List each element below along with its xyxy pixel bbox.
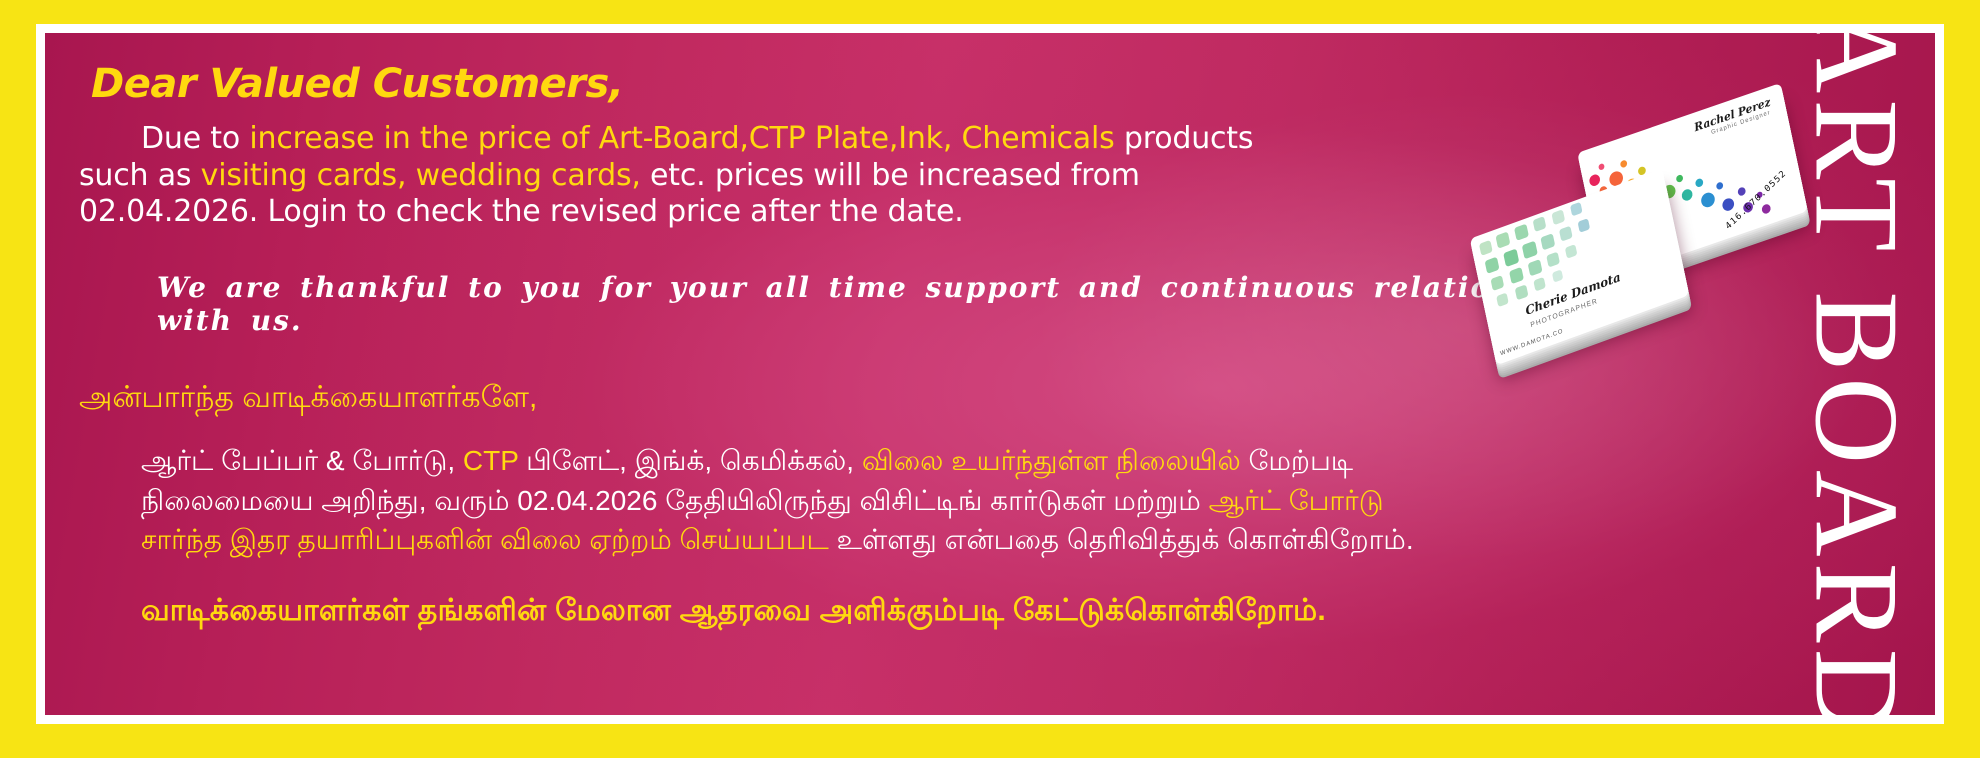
green-dots-graphic (1470, 169, 1690, 366)
price-revision-banner: Dear Valued Customers, Due to increase i… (0, 0, 1980, 758)
tamil-body-seg7: உள்ளது என்பதை தெரிவித்துக் கொள்கிறோம். (829, 524, 1414, 555)
tamil-body-paragraph: ஆர்ட் பேப்பர் & போர்டு, CTP பிளேட், இங்க… (141, 441, 1451, 560)
english-thanks-line: We are thankful to you for your all time… (157, 271, 1579, 337)
tamil-body-seg1: ஆர்ட் பேப்பர் & போர்டு, (141, 445, 463, 476)
english-body-highlight-cards: visiting cards, wedding cards, (201, 158, 641, 193)
tamil-body-highlight-ctp: CTP (463, 445, 519, 476)
english-body-seg1: Due to (141, 121, 249, 156)
green-business-card-stack: Cherie Damota PHOTOGRAPHER WWW.DAMOTA.CO (1470, 169, 1690, 366)
text-column: Dear Valued Customers, Due to increase i… (79, 39, 1579, 632)
business-cards-artwork: Rachel Perez Graphic Designer 416.670.05… (1475, 75, 1805, 345)
english-body-paragraph: Due to increase in the price of Art-Boar… (79, 121, 1299, 231)
english-greeting: Dear Valued Customers, (91, 61, 1579, 107)
tamil-closing-line: வாடிக்கையாளர்கள் தங்களின் மேலான ஆதரவை அள… (141, 594, 1579, 632)
tamil-body-highlight-priceincrease: விலை உயர்ந்துள்ள நிலையில் (862, 445, 1241, 476)
vertical-brand-text: ART BOARD (1796, 33, 1916, 715)
tamil-body-seg3: பிளேட், இங்க், கெமிக்கல், (518, 445, 861, 476)
white-frame: Dear Valued Customers, Due to increase i… (36, 24, 1944, 724)
banner-board: Dear Valued Customers, Due to increase i… (45, 33, 1935, 715)
english-body-highlight-products: increase in the price of Art-Board,CTP P… (249, 121, 1114, 156)
tamil-greeting: அன்பார்ந்த வாடிக்கையாளர்களே, (79, 381, 1579, 419)
